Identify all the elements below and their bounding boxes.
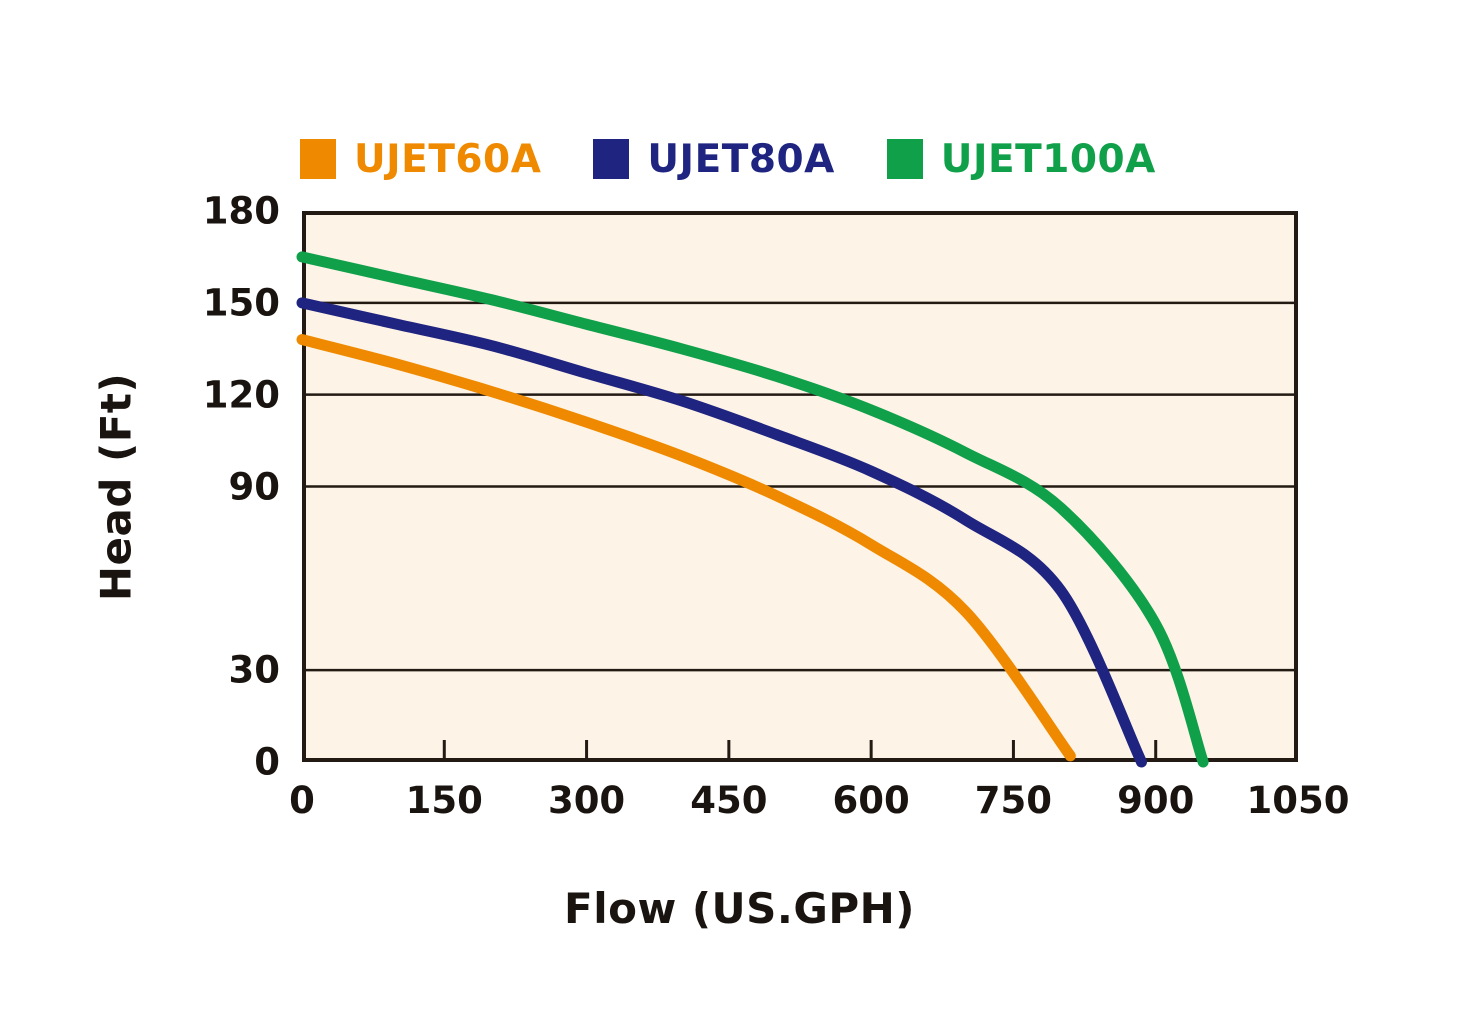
y-axis-title: Head (Ft) bbox=[92, 373, 141, 601]
x-axis-title: Flow (US.GPH) bbox=[0, 884, 1479, 933]
x-tick-label: 450 bbox=[690, 782, 767, 819]
x-tick-label: 750 bbox=[975, 782, 1052, 819]
x-tick-label: 1050 bbox=[1247, 782, 1350, 819]
legend-label-ujet80a: UJET80A bbox=[647, 140, 834, 179]
x-tick-label: 300 bbox=[548, 782, 625, 819]
plot-canvas bbox=[302, 211, 1298, 762]
legend-item-ujet100a: UJET100A bbox=[887, 139, 1156, 179]
legend-label-ujet100a: UJET100A bbox=[941, 140, 1156, 179]
y-tick-label: 150 bbox=[203, 284, 280, 321]
y-tick-label: 30 bbox=[229, 652, 281, 689]
x-tick-label: 900 bbox=[1117, 782, 1194, 819]
data-curves bbox=[302, 257, 1203, 762]
pump-performance-chart: UJET60A UJET80A UJET100A 03090120150180 … bbox=[0, 0, 1479, 1025]
x-tick-label: 0 bbox=[289, 782, 315, 819]
legend-swatch-icon-ujet100a bbox=[887, 139, 923, 179]
x-tick-marks bbox=[444, 740, 1155, 762]
y-tick-label: 90 bbox=[229, 468, 281, 505]
legend-item-ujet60a: UJET60A bbox=[300, 139, 541, 179]
legend-item-ujet80a: UJET80A bbox=[593, 139, 834, 179]
chart-legend: UJET60A UJET80A UJET100A bbox=[300, 128, 1156, 190]
y-tick-label: 0 bbox=[254, 744, 280, 781]
y-axis-tick-labels: 03090120150180 bbox=[225, 0, 280, 1025]
legend-swatch-icon-ujet80a bbox=[593, 139, 629, 179]
y-tick-label: 120 bbox=[203, 376, 280, 413]
x-tick-label: 600 bbox=[833, 782, 910, 819]
legend-label-ujet60a: UJET60A bbox=[354, 140, 541, 179]
x-tick-label: 150 bbox=[406, 782, 483, 819]
legend-swatch-icon-ujet60a bbox=[300, 139, 336, 179]
y-tick-label: 180 bbox=[203, 193, 280, 230]
